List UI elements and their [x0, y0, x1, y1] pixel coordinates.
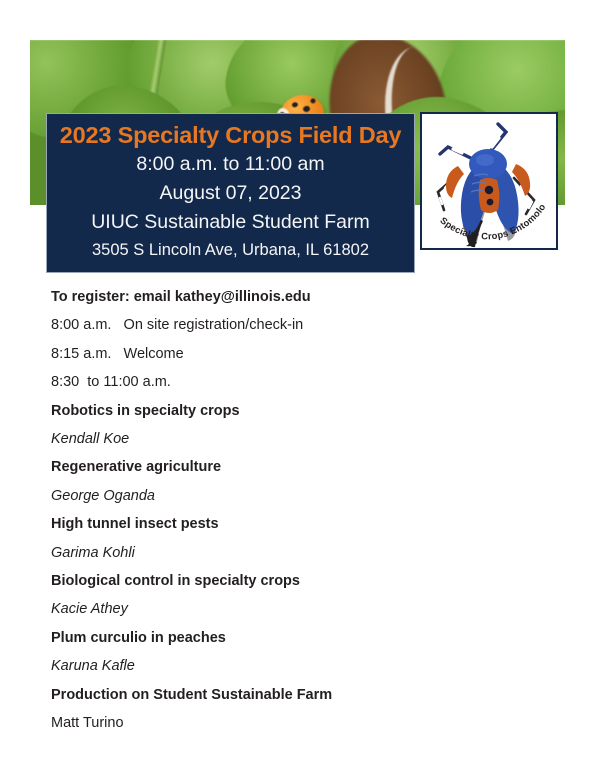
- session-speaker: Kendall Koe: [51, 425, 531, 453]
- session-topic: Production on Student Sustainable Farm: [51, 681, 531, 709]
- session-speaker: Matt Turino: [51, 709, 531, 737]
- session-speaker: Karuna Kafle: [51, 652, 531, 680]
- session-topic: Biological control in specialty crops: [51, 567, 531, 595]
- lab-logo-card: Specialty Crops Entomology Lab: [420, 112, 558, 250]
- register-line: To register: email kathey@illinois.edu: [51, 283, 531, 311]
- session-topic: Robotics in specialty crops: [51, 397, 531, 425]
- session-topic: High tunnel insect pests: [51, 510, 531, 538]
- schedule-row: 8:00 a.m. On site registration/check-in: [51, 311, 531, 339]
- session-speaker: George Oganda: [51, 482, 531, 510]
- schedule-row: 8:15 a.m. Welcome: [51, 340, 531, 368]
- session-speaker: Kacie Athey: [51, 595, 531, 623]
- event-venue: UIUC Sustainable Student Farm: [47, 208, 414, 237]
- session-topic: Plum curculio in peaches: [51, 624, 531, 652]
- event-time: 8:00 a.m. to 11:00 am: [47, 150, 414, 179]
- event-title: 2023 Specialty Crops Field Day: [47, 120, 414, 150]
- beetle-logo-icon: Specialty Crops Entomology Lab: [422, 114, 556, 248]
- flyer-body: To register: email kathey@illinois.edu 8…: [51, 283, 531, 738]
- schedule-row: 8:30 to 11:00 a.m.: [51, 368, 531, 396]
- event-title-box: 2023 Specialty Crops Field Day 8:00 a.m.…: [46, 113, 415, 273]
- session-topic: Regenerative agriculture: [51, 453, 531, 481]
- session-speaker: Garima Kohli: [51, 539, 531, 567]
- event-address: 3505 S Lincoln Ave, Urbana, IL 61802: [47, 237, 414, 263]
- event-date: August 07, 2023: [47, 179, 414, 208]
